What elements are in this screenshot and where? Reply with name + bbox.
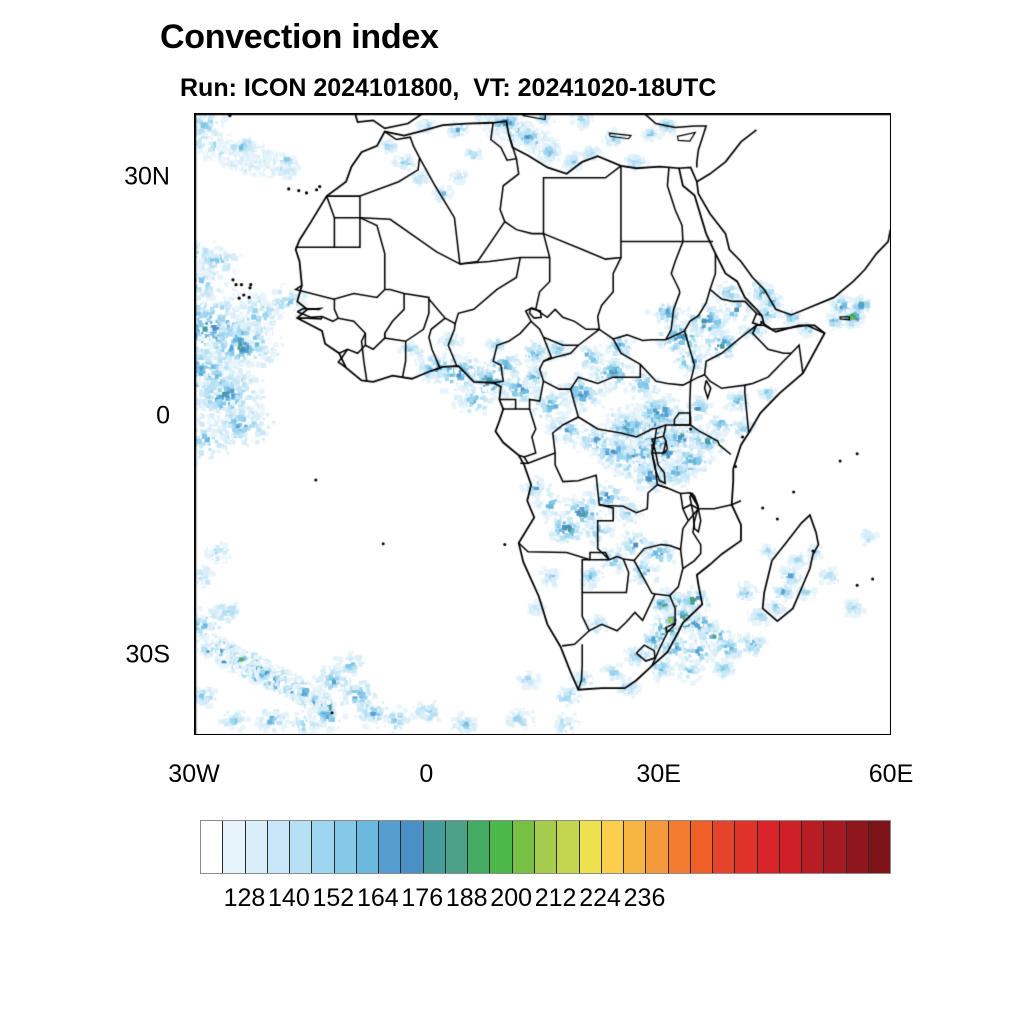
colorbar-tick-label: 176 <box>401 884 443 913</box>
colorbar-bin[interactable] <box>490 821 512 873</box>
page-title: Convection index <box>160 18 439 57</box>
colorbar-bin[interactable] <box>201 821 223 873</box>
colorbar-bin[interactable] <box>713 821 735 873</box>
colorbar-bin[interactable] <box>624 821 646 873</box>
colorbar-tick-label: 164 <box>357 884 399 913</box>
colorbar-bin[interactable] <box>424 821 446 873</box>
colorbar-bin[interactable] <box>691 821 713 873</box>
colorbar-bin[interactable] <box>335 821 357 873</box>
colorbar-bin[interactable] <box>557 821 579 873</box>
colorbar-tick-label: 140 <box>268 884 310 913</box>
colorbar-bin[interactable] <box>669 821 691 873</box>
colorbar-tick-label: 200 <box>490 884 532 913</box>
colorbar-tick-label: 224 <box>579 884 621 913</box>
chart-subtitle: Run: ICON 2024101800, VT: 20241020-18UTC <box>180 74 716 103</box>
colorbar-tick-label: 236 <box>624 884 666 913</box>
colorbar-bin[interactable] <box>468 821 490 873</box>
colorbar-tick-label: 188 <box>446 884 488 913</box>
colorbar-tick-label: 152 <box>312 884 354 913</box>
colorbar-bin[interactable] <box>379 821 401 873</box>
colorbar-bin[interactable] <box>246 821 268 873</box>
x-axis-tick-label: 30E <box>636 760 680 789</box>
colorbar-tick-label: 212 <box>535 884 577 913</box>
colorbar-bin[interactable] <box>268 821 290 873</box>
colorbar-bin[interactable] <box>735 821 757 873</box>
map-plot-area[interactable] <box>194 113 891 735</box>
colorbar-bin[interactable] <box>401 821 423 873</box>
colorbar-bin[interactable] <box>758 821 780 873</box>
colorbar[interactable] <box>200 820 891 874</box>
colorbar-bin[interactable] <box>824 821 846 873</box>
x-axis-tick-label: 30W <box>168 760 219 789</box>
colorbar-bin[interactable] <box>869 821 890 873</box>
colorbar-bin[interactable] <box>535 821 557 873</box>
y-axis-tick-label: 0 <box>100 402 170 431</box>
y-axis-tick-label: 30N <box>100 162 170 191</box>
colorbar-tick-label: 128 <box>224 884 266 913</box>
colorbar-bin[interactable] <box>802 821 824 873</box>
colorbar-bin[interactable] <box>646 821 668 873</box>
colorbar-bin[interactable] <box>513 821 535 873</box>
colorbar-bin[interactable] <box>780 821 802 873</box>
colorbar-bin[interactable] <box>290 821 312 873</box>
colorbar-bin[interactable] <box>357 821 379 873</box>
colorbar-bin[interactable] <box>847 821 869 873</box>
convection-index-heatmap <box>195 114 891 735</box>
y-axis-tick-label: 30S <box>100 641 170 670</box>
x-axis-tick-label: 60E <box>869 760 913 789</box>
colorbar-bin[interactable] <box>312 821 334 873</box>
colorbar-bin[interactable] <box>602 821 624 873</box>
colorbar-bin[interactable] <box>446 821 468 873</box>
colorbar-bin[interactable] <box>223 821 245 873</box>
colorbar-bin[interactable] <box>580 821 602 873</box>
x-axis-tick-label: 0 <box>419 760 433 789</box>
